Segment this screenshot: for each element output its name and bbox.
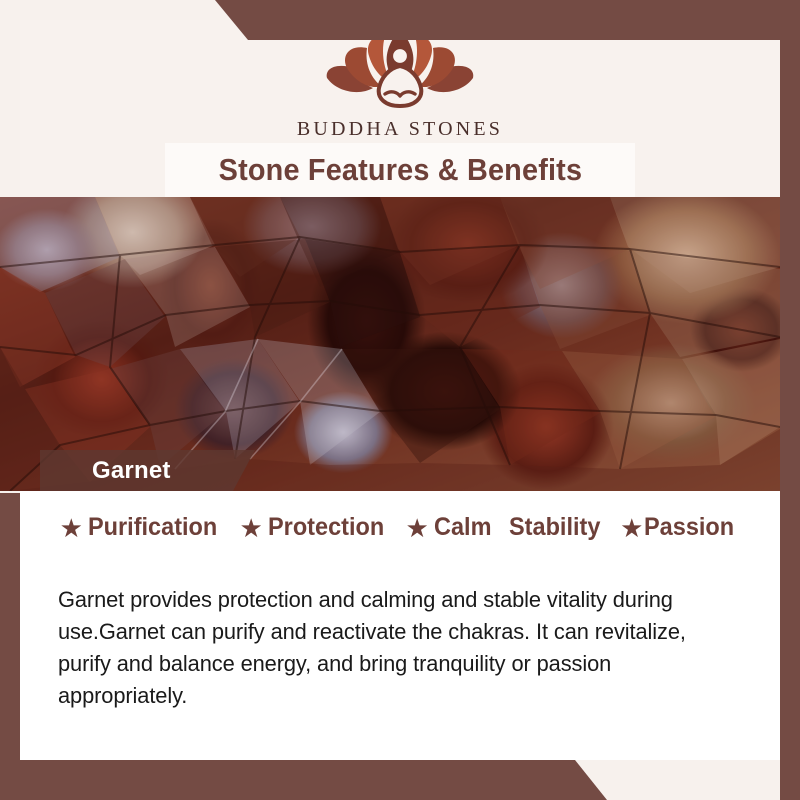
benefit-item-stability: ★ Stability — [509, 513, 606, 542]
frame-accent-bottom-left — [0, 760, 800, 800]
benefit-label: Passion — [644, 513, 734, 542]
stone-name-tag: Garnet — [40, 450, 255, 491]
benefit-label: Purification — [88, 513, 217, 542]
frame-accent-right — [780, 0, 800, 800]
benefit-item-protection: ★ Protection — [240, 513, 392, 542]
benefit-item-passion: ★ Passion — [620, 513, 740, 542]
benefits-row: ★ Purification ★ Protection ★ Calm ★ Sta… — [20, 513, 780, 542]
star-icon: ★ — [405, 515, 428, 541]
benefit-label: Protection — [268, 513, 384, 542]
star-icon: ★ — [240, 515, 263, 541]
frame-accent-left — [0, 493, 20, 800]
description-text: Garnet provides protection and calming a… — [58, 584, 743, 712]
benefit-label: Stability — [509, 513, 600, 542]
star-icon: ★ — [620, 515, 643, 541]
content-panel: ★ Purification ★ Protection ★ Calm ★ Sta… — [20, 491, 780, 760]
page-title: Stone Features & Benefits — [218, 152, 582, 188]
star-icon: ★ — [60, 515, 83, 541]
benefit-item-purification: ★ Purification — [60, 513, 226, 542]
hero-image — [0, 197, 780, 491]
title-banner: Stone Features & Benefits — [165, 143, 635, 197]
brand-wordmark: BUDDHA STONES — [0, 118, 800, 141]
stone-name-label: Garnet — [40, 457, 171, 485]
benefit-item-calm: ★ Calm — [405, 513, 494, 542]
benefit-label: Calm — [434, 513, 491, 542]
poster-root: BUDDHA STONES Stone Features & Benefits — [0, 0, 800, 800]
garnet-facet-overlay — [0, 197, 780, 491]
